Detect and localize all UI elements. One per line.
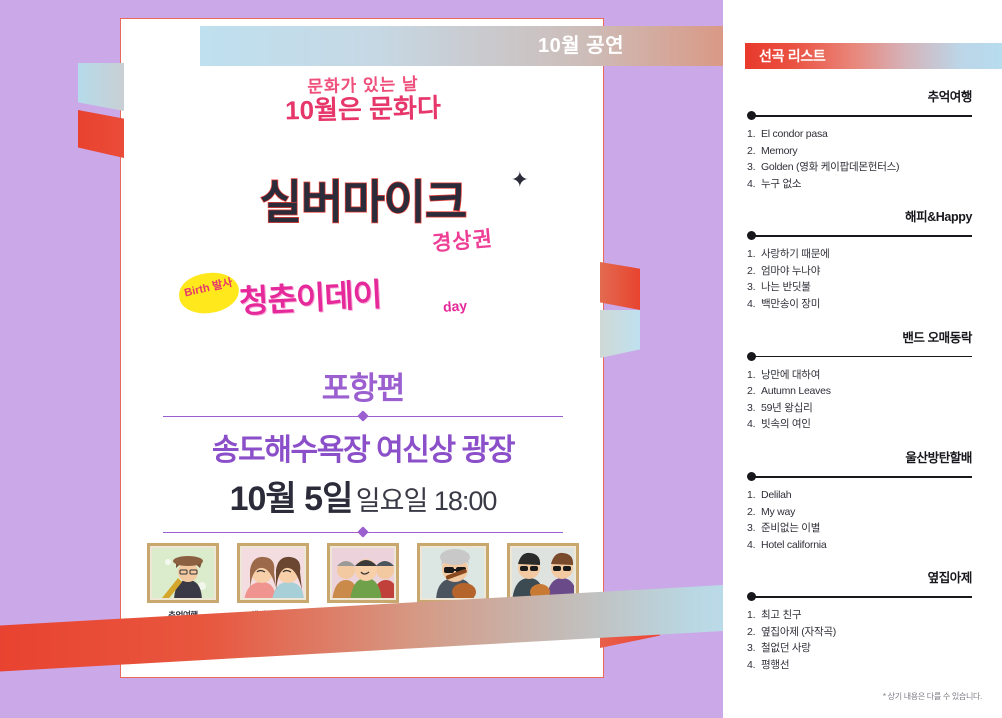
song-list: 1.최고 친구 2.옆집아제 (자작곡) 3.철없던 사랑 4.평행선 [747, 607, 972, 673]
performer-portrait-icon [332, 548, 394, 598]
song-item: 1.낭만에 대하여 [747, 367, 972, 384]
song-list: 1.사랑하기 때문에 2.엄마야 누나야 3.나는 반딧불 4.백만송이 장미 [747, 246, 972, 312]
youth-logo-text: 청춘이데이 [238, 269, 382, 322]
diamond-icon [357, 526, 368, 537]
group-title: 옆집아제 [747, 567, 972, 586]
performer-photo-frame [237, 543, 309, 603]
song-item: 1.Delilah [747, 487, 972, 504]
song-item: 2.옆집아제 (자작곡) [747, 624, 972, 641]
song-list: 1.El condor pasa 2.Memory 3.Golden (영화 케… [747, 126, 972, 192]
group-rule [747, 352, 972, 361]
divider-bottom [163, 527, 563, 537]
song-item: 4.누구 없소 [747, 176, 972, 193]
song-item: 4.빗속의 여인 [747, 416, 972, 433]
date-small: 일요일 18:00 [356, 486, 497, 516]
song-item: 4.백만송이 장미 [747, 296, 972, 313]
song-item: 4.Hotel california [747, 537, 972, 554]
setlist-body: 추억여행 1.El condor pasa 2.Memory 3.Golden … [723, 86, 992, 688]
song-item: 3.준비없는 이별 [747, 520, 972, 537]
group-rule [747, 592, 972, 601]
poster-panel: 문화가 있는 날 10월은 문화다 실버마이크 ✦ 경상권 Birth 발사 청… [0, 0, 723, 718]
venue-text: 송도해수욕장 여신상 광장 [121, 425, 605, 469]
munhwa-day-logo: 문화가 있는 날 10월은 문화다 [121, 77, 605, 122]
setlist-header: 선곡 리스트 [745, 43, 1002, 69]
silver-mike-logo: 실버마이크 ✦ [121, 179, 605, 225]
divider-top [163, 411, 563, 421]
ribbon-flap-right-top [600, 262, 640, 310]
setlist-title: 선곡 리스트 [759, 46, 826, 66]
speech-bubble-icon: Birth 발사 [177, 270, 241, 316]
performer-photo-frame [147, 543, 219, 603]
ribbon-flap-left-bottom [78, 110, 124, 158]
song-item: 1.최고 친구 [747, 607, 972, 624]
bubble-text: Birth 발사 [178, 275, 239, 300]
performer-card: 추억여행 [143, 543, 223, 621]
song-item: 2.Autumn Leaves [747, 383, 972, 400]
song-item: 2.엄마야 누나야 [747, 263, 972, 280]
city-title: 포항편 [121, 363, 605, 408]
song-list: 1.낭만에 대하여 2.Autumn Leaves 3.59년 왕십리 4.빗속… [747, 367, 972, 433]
song-list: 1.Delilah 2.My way 3.준비없는 이별 4.Hotel cal… [747, 487, 972, 553]
setlist-group: 추억여행 1.El condor pasa 2.Memory 3.Golden … [723, 86, 992, 192]
performer-photo-frame [417, 543, 489, 603]
group-title: 울산방탄할배 [747, 447, 972, 466]
region-tag: 경상권 [431, 222, 494, 257]
performer-portrait-icon [152, 548, 214, 598]
setlist-group: 울산방탄할배 1.Delilah 2.My way 3.준비없는 이별 4.Ho… [723, 447, 992, 553]
song-item: 2.My way [747, 504, 972, 521]
song-item: 1.El condor pasa [747, 126, 972, 143]
setlist-note: * 상기 내용은 다를 수 있습니다. [883, 691, 982, 702]
song-item: 3.59년 왕십리 [747, 400, 972, 417]
setlist-group: 해피&Happy 1.사랑하기 때문에 2.엄마야 누나야 3.나는 반딧불 4… [723, 206, 992, 312]
song-item: 3.나는 반딧불 [747, 279, 972, 296]
top-banner: 10월 공연 [200, 26, 723, 66]
date-big: 10월 5일 [230, 480, 353, 518]
performer-portrait-icon [242, 548, 304, 598]
poster-sheet: 문화가 있는 날 10월은 문화다 실버마이크 ✦ 경상권 Birth 발사 청… [120, 18, 604, 678]
group-rule [747, 231, 972, 240]
diamond-icon [357, 410, 368, 421]
youth-day-logo: Birth 발사 청춘이데이 day [121, 271, 605, 319]
setlist-group: 밴드 오매동락 1.낭만에 대하여 2.Autumn Leaves 3.59년 … [723, 327, 992, 433]
performer-photo-frame [327, 543, 399, 603]
banner-label: 10월 공연 [538, 26, 624, 66]
song-item: 2.Memory [747, 143, 972, 160]
sparkle-icon: ✦ [511, 169, 529, 191]
ribbon-flap-right-bottom [600, 310, 640, 358]
group-rule [747, 111, 972, 120]
performer-portrait-icon [422, 548, 484, 598]
silver-mike-text: 실버마이크 [260, 176, 467, 228]
song-item: 1.사랑하기 때문에 [747, 246, 972, 263]
group-title: 밴드 오매동락 [747, 327, 972, 346]
datetime-text: 10월 5일 일요일 18:00 [121, 471, 605, 520]
group-rule [747, 472, 972, 481]
ribbon-flap-left-top [78, 63, 124, 111]
setlist-panel: 선곡 리스트 추억여행 1.El condor pasa 2.Memory 3.… [723, 0, 1002, 718]
setlist-group: 옆집아제 1.최고 친구 2.옆집아제 (자작곡) 3.철없던 사랑 4.평행선 [723, 567, 992, 673]
performer-portrait-icon [512, 548, 574, 598]
song-item: 3.Golden (영화 케이팝데몬헌터스) [747, 159, 972, 176]
song-item: 4.평행선 [747, 657, 972, 674]
group-title: 추억여행 [747, 86, 972, 105]
youth-logo-day: day [442, 297, 467, 315]
group-title: 해피&Happy [747, 206, 972, 225]
song-item: 3.철없던 사랑 [747, 640, 972, 657]
